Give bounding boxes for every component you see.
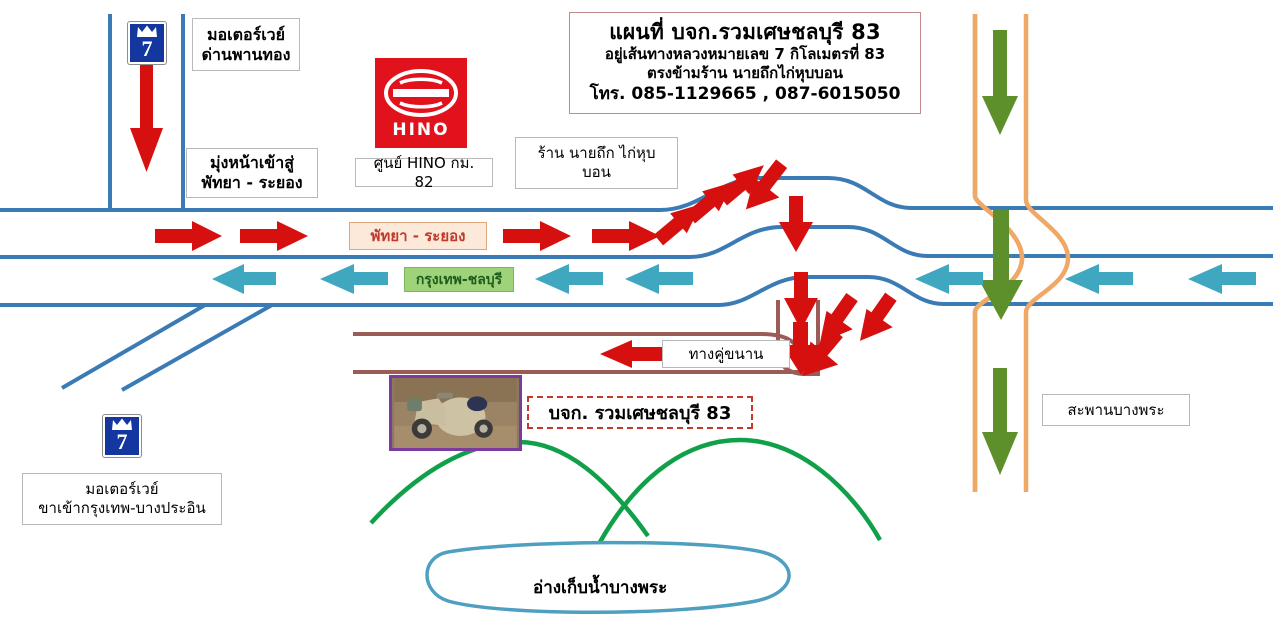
route-shield-7-top: 7	[128, 22, 166, 64]
bridge-down-arrows	[979, 30, 1023, 475]
red-arrow-3	[503, 221, 571, 251]
company-name-tag: บจก. รวมเศษชลบุรี 83	[527, 396, 753, 429]
cyan-arrow-3	[535, 264, 603, 294]
map-canvas: แผนที่ บจก.รวมเศษชลบุรี 83 อยู่เส้นทางหล…	[0, 0, 1273, 627]
motorway-ramps	[62, 305, 272, 390]
red-arrow-1	[155, 221, 222, 251]
label-motorway-to-bangkok-bangpaiin: มอเตอร์เวย์ ขาเข้ากรุงเทพ-บางประอิน	[22, 473, 222, 525]
red-arrow-down-6	[849, 289, 906, 352]
cyan-arrow-2	[320, 264, 388, 294]
cyan-arrow-4	[625, 264, 693, 294]
label-parallel-road: ทางคู่ขนาน	[662, 340, 790, 368]
label-reservoir: อ่างเก็บน้ำบางพระ	[533, 574, 667, 601]
map-title-phone: โทร. 085-1129665 , 087-6015050	[582, 84, 908, 105]
scooter-sidecar-photo	[389, 375, 522, 451]
map-title-line3: ตรงข้ามร้าน นายถึกไก่หุบบอน	[582, 64, 908, 83]
label-heading-to-pattaya-rayong: มุ่งหน้าเข้าสู่ พัทยา - ระยอง	[186, 148, 318, 198]
route-number: 7	[117, 431, 128, 453]
cyan-arrow-1	[212, 264, 276, 294]
tag-pattaya-rayong: พัทยา - ระยอง	[349, 222, 487, 250]
westbound-arrows	[212, 264, 1256, 294]
hino-wordmark: HINO	[392, 120, 449, 140]
map-title-line2: อยู่เส้นทางหลวงหมายเลข 7 กิโลเมตรที่ 83	[582, 45, 908, 64]
route-shield-7-bottom: 7	[103, 415, 141, 457]
green-arrow-top	[982, 30, 1018, 135]
label-hino-center-km82: ศูนย์ HINO กม. 82	[355, 158, 493, 187]
green-arrow-bottom	[982, 368, 1018, 475]
hills	[371, 440, 880, 542]
map-title-line1: แผนที่ บจก.รวมเศษชลบุรี 83	[582, 19, 908, 45]
cyan-arrow-6	[1065, 264, 1133, 294]
red-arrow-down-2	[779, 196, 813, 252]
red-arrow-4	[592, 221, 660, 251]
cyan-arrow-7	[1188, 264, 1256, 294]
route-number: 7	[142, 38, 153, 60]
cyan-arrow-5	[915, 264, 983, 294]
parallel-road-arrow	[600, 340, 668, 368]
tag-bangkok-chonburi: กรุงเทพ-ชลบุรี	[404, 267, 514, 292]
label-motorway-toll-phan-thong: มอเตอร์เวย์ ด่านพานทอง	[192, 18, 300, 71]
hino-emblem-icon	[383, 67, 459, 119]
red-arrow-2	[240, 221, 308, 251]
hino-logo: HINO	[375, 58, 467, 148]
map-title-box: แผนที่ บจก.รวมเศษชลบุรี 83 อยู่เส้นทางหล…	[569, 12, 921, 114]
label-bang-phra-bridge: สะพานบางพระ	[1042, 394, 1190, 426]
label-nai-thuek-shop: ร้าน นายถึก ไก่หุบ บอน	[515, 137, 678, 189]
